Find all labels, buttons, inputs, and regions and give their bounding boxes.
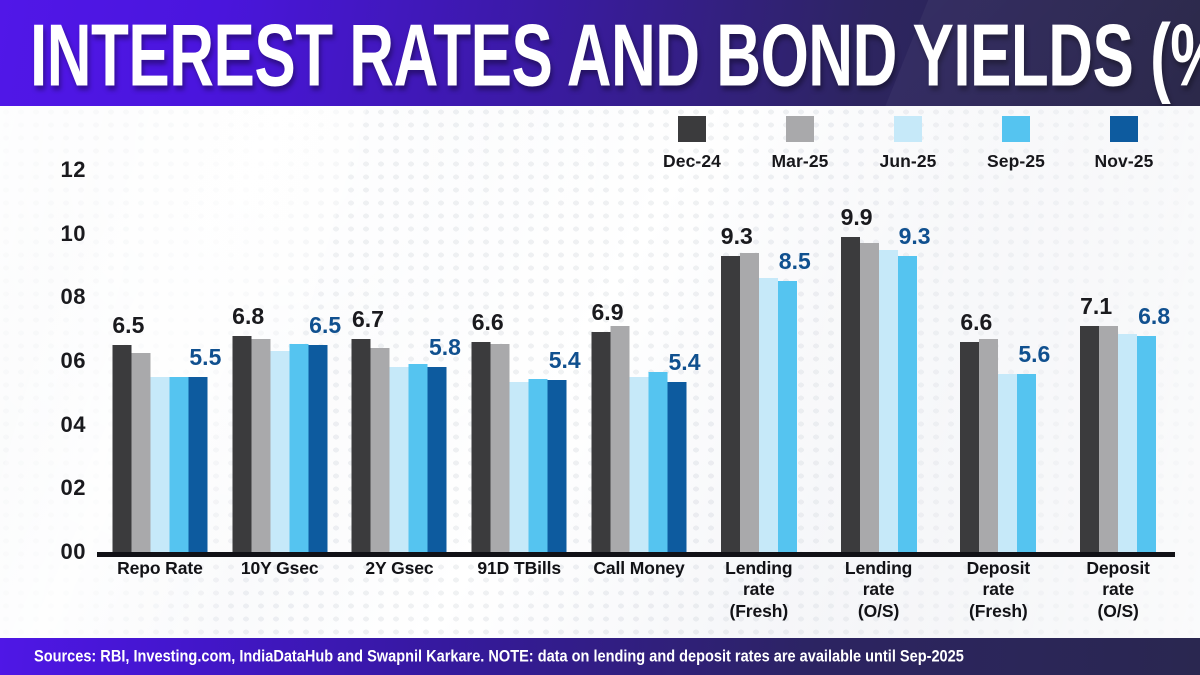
bar-group: 6.65.6: [938, 106, 1058, 552]
x-axis-category-line: rate: [699, 579, 819, 600]
bar-value-label-first: 6.8: [232, 303, 264, 330]
x-axis-category-line: Deposit: [1058, 558, 1178, 579]
bar-mar-25: [371, 348, 390, 552]
bar-mar-25: [611, 326, 630, 552]
bar-jun-25: [270, 351, 289, 552]
bar-dec-24: [352, 339, 371, 552]
bar-value-label-first: 6.9: [592, 299, 624, 326]
x-axis-category-line: (Fresh): [938, 601, 1058, 622]
x-axis-category-label: Depositrate(Fresh): [938, 558, 1058, 622]
bar-group: 6.65.4: [459, 106, 579, 552]
bar-stack: [841, 237, 917, 552]
bar-sep-25: [169, 377, 188, 552]
bar-jun-25: [759, 278, 778, 552]
x-axis-category-line: (O/S): [819, 601, 939, 622]
x-axis-category-line: (O/S): [1058, 601, 1178, 622]
x-axis-category-line: rate: [819, 579, 939, 600]
bar-jun-25: [630, 377, 649, 552]
x-axis-category-line: (Fresh): [699, 601, 819, 622]
bar-dec-24: [721, 256, 740, 552]
bar-jun-25: [1118, 334, 1137, 552]
bar-jun-25: [998, 374, 1017, 552]
x-axis-category-label: 10Y Gsec: [220, 558, 340, 622]
bar-nov-25: [668, 382, 687, 552]
page-title: INTEREST RATES AND BOND YIELDS (%): [30, 6, 1200, 106]
bar-value-label-last: 5.5: [189, 344, 221, 371]
bar-jun-25: [510, 382, 529, 552]
bar-stack: [1080, 326, 1156, 552]
x-axis-category-line: Deposit: [938, 558, 1058, 579]
x-axis-category-line: 2Y Gsec: [340, 558, 460, 579]
bar-dec-24: [112, 345, 131, 552]
header-banner: INTEREST RATES AND BOND YIELDS (%): [0, 0, 1200, 106]
x-axis-category-label: Call Money: [579, 558, 699, 622]
bar-group: 9.99.3: [819, 106, 939, 552]
x-axis-category-label: Lendingrate(Fresh): [699, 558, 819, 622]
y-axis-tick-label: 06: [61, 348, 86, 374]
bar-dec-24: [1080, 326, 1099, 552]
bar-value-label-last: 6.5: [309, 312, 341, 339]
bar-value-label-first: 6.6: [472, 309, 504, 336]
bar-jun-25: [879, 250, 898, 552]
footer-bar: Sources: RBI, Investing.com, IndiaDataHu…: [0, 638, 1200, 675]
bar-sep-25: [1137, 336, 1156, 552]
bar-sep-25: [898, 256, 917, 552]
bar-value-label-last: 5.8: [429, 334, 461, 361]
bar-stack: [721, 253, 797, 552]
bar-mar-25: [740, 253, 759, 552]
bar-value-label-last: 5.6: [1018, 341, 1050, 368]
bar-dec-24: [472, 342, 491, 552]
bar-dec-24: [841, 237, 860, 552]
bar-sep-25: [778, 281, 797, 552]
y-axis-tick-label: 10: [61, 221, 86, 247]
x-axis-category-line: rate: [938, 579, 1058, 600]
y-axis-tick-label: 04: [61, 412, 86, 438]
bar-value-label-first: 6.5: [112, 312, 144, 339]
bar-sep-25: [289, 344, 308, 553]
bar-mar-25: [251, 339, 270, 552]
bar-stack: [960, 339, 1036, 552]
bar-jun-25: [150, 377, 169, 552]
bar-group: 6.55.5: [100, 106, 220, 552]
x-axis-category-label: 91D TBills: [459, 558, 579, 622]
y-axis-tick-label: 12: [61, 157, 86, 183]
bar-dec-24: [960, 342, 979, 552]
bar-chart-plot: 12100806040200 6.55.56.86.56.75.86.65.46…: [0, 106, 1200, 638]
y-axis-tick-label: 02: [61, 475, 86, 501]
bar-group: 6.86.5: [220, 106, 340, 552]
x-axis-category-line: Call Money: [579, 558, 699, 579]
bar-sep-25: [529, 379, 548, 552]
x-axis-category-line: Repo Rate: [100, 558, 220, 579]
y-axis-tick-label: 00: [61, 539, 86, 565]
x-axis-category-line: Lending: [819, 558, 939, 579]
y-axis-tick-label: 08: [61, 284, 86, 310]
x-axis-category-label: Repo Rate: [100, 558, 220, 622]
bar-value-label-last: 9.3: [899, 223, 931, 250]
bar-value-label-first: 6.6: [960, 309, 992, 336]
bar-sep-25: [649, 372, 668, 552]
bar-value-label-last: 5.4: [549, 347, 581, 374]
bar-mar-25: [491, 344, 510, 553]
bar-mar-25: [1099, 326, 1118, 552]
bar-groups: 6.55.56.86.56.75.86.65.46.95.49.38.59.99…: [100, 106, 1178, 552]
bar-mar-25: [979, 339, 998, 552]
bar-stack: [112, 345, 207, 552]
bar-nov-25: [308, 345, 327, 552]
bar-group: 6.95.4: [579, 106, 699, 552]
sources-note: Sources: RBI, Investing.com, IndiaDataHu…: [34, 647, 964, 666]
bar-group: 6.75.8: [340, 106, 460, 552]
bar-group: 7.16.8: [1058, 106, 1178, 552]
bar-sep-25: [409, 364, 428, 552]
bar-sep-25: [1017, 374, 1036, 552]
bar-value-label-last: 8.5: [779, 248, 811, 275]
bar-value-label-last: 6.8: [1138, 303, 1170, 330]
bar-value-label-last: 5.4: [669, 349, 701, 376]
bar-nov-25: [428, 367, 447, 552]
x-axis-category-label: Depositrate(O/S): [1058, 558, 1178, 622]
bar-value-label-first: 6.7: [352, 306, 384, 333]
chart-area: Dec-24Mar-25Jun-25Sep-25Nov-25 121008060…: [0, 106, 1200, 638]
bar-stack: [232, 336, 327, 552]
x-axis-category-line: 91D TBills: [459, 558, 579, 579]
bar-group: 9.38.5: [699, 106, 819, 552]
bar-value-label-first: 9.9: [841, 204, 873, 231]
infographic-page: INTEREST RATES AND BOND YIELDS (%) Dec-2…: [0, 0, 1200, 675]
bar-nov-25: [548, 380, 567, 552]
x-axis-category-line: 10Y Gsec: [220, 558, 340, 579]
y-axis: 12100806040200: [0, 106, 100, 638]
bar-dec-24: [232, 336, 251, 552]
x-axis-labels: Repo Rate10Y Gsec2Y Gsec91D TBillsCall M…: [100, 558, 1178, 622]
x-axis-line: [97, 552, 1175, 557]
x-axis-category-label: 2Y Gsec: [340, 558, 460, 622]
bar-dec-24: [592, 332, 611, 552]
bar-mar-25: [860, 243, 879, 552]
bar-stack: [352, 339, 447, 552]
bar-nov-25: [188, 377, 207, 552]
x-axis-category-line: rate: [1058, 579, 1178, 600]
x-axis-category-label: Lendingrate(O/S): [819, 558, 939, 622]
x-axis-category-line: Lending: [699, 558, 819, 579]
bar-mar-25: [131, 353, 150, 552]
bar-value-label-first: 9.3: [721, 223, 753, 250]
bar-value-label-first: 7.1: [1080, 293, 1112, 320]
bar-jun-25: [390, 367, 409, 552]
